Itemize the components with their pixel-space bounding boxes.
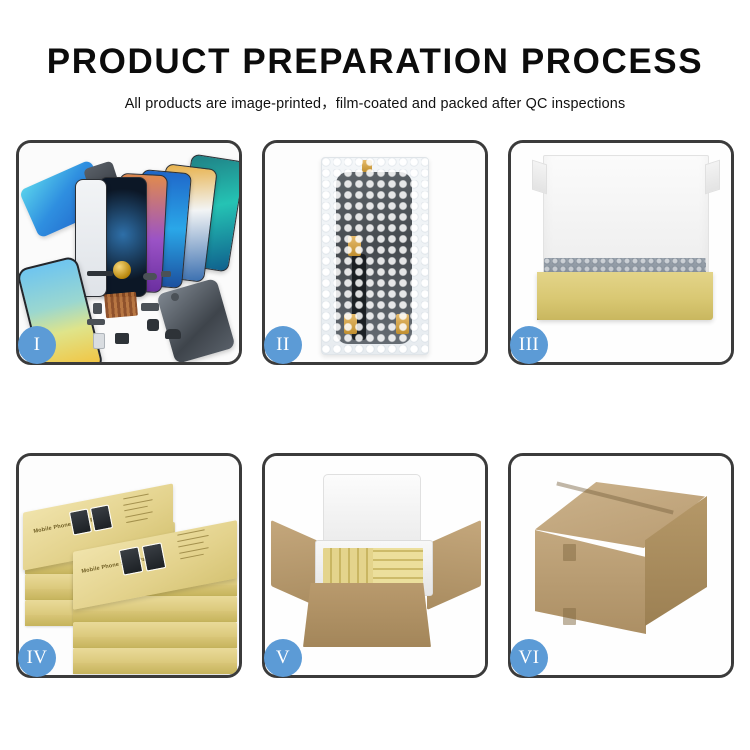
part-ribbon-icon <box>141 303 159 311</box>
step-3-image <box>511 143 731 362</box>
tape-piece-icon <box>348 236 361 256</box>
process-step-grid: I II III <box>16 140 734 678</box>
part-screw-icon <box>161 271 171 277</box>
step-badge-3: III <box>510 326 548 364</box>
tape-piece-icon <box>362 160 372 172</box>
foam-lid-icon <box>323 474 421 548</box>
part-vibrator-icon <box>165 329 181 339</box>
process-step-panel-4[interactable]: Mobile Phone Spare Parts Mobile Phone Sp… <box>16 453 242 678</box>
process-step-panel-6[interactable]: VI <box>508 453 734 678</box>
box-stack-group: Mobile Phone Spare Parts Mobile Phone Sp… <box>23 474 239 672</box>
carton-front-icon <box>303 583 431 647</box>
carton-flap-right-icon <box>427 520 481 610</box>
page-title: PRODUCT PREPARATION PROCESS <box>0 0 750 81</box>
kraft-box-body-icon <box>537 272 713 320</box>
stacked-box <box>73 648 237 674</box>
copper-coil-icon <box>113 261 131 279</box>
process-step-panel-2[interactable]: II <box>262 140 488 365</box>
part-speaker-icon <box>115 333 129 344</box>
page-header: PRODUCT PREPARATION PROCESS All products… <box>0 0 750 113</box>
part-button-icon <box>171 293 179 301</box>
step-5-image <box>265 456 485 675</box>
part-connector-icon <box>87 271 113 276</box>
carton-left-face-icon <box>535 530 646 634</box>
part-flex-cable-icon <box>87 319 105 325</box>
step-badge-5: V <box>264 639 302 677</box>
process-step-panel-5[interactable]: V <box>262 453 488 678</box>
process-step-panel-3[interactable]: III <box>508 140 734 365</box>
step-6-image <box>511 456 731 675</box>
bubble-wrap-bag-icon <box>321 157 429 355</box>
step-1-image <box>19 143 239 362</box>
step-2-image <box>265 143 485 362</box>
part-bracket-icon <box>93 303 102 314</box>
part-camera-icon <box>147 319 159 331</box>
carton-tape-icon <box>563 544 576 561</box>
tape-piece-icon <box>344 314 357 334</box>
carton-tape-icon <box>563 608 576 625</box>
part-clip-icon <box>143 273 157 280</box>
yellow-boxes-stack-icon <box>373 548 423 586</box>
page-subtitle: All products are image-printed，film-coat… <box>0 81 750 113</box>
process-step-panel-1[interactable]: I <box>16 140 242 365</box>
step-badge-2: II <box>264 326 302 364</box>
step-4-image: Mobile Phone Spare Parts Mobile Phone Sp… <box>19 456 239 675</box>
chip-board-icon <box>104 292 138 319</box>
step-badge-4: IV <box>18 639 56 677</box>
stacked-box <box>73 622 237 648</box>
step-badge-1: I <box>18 326 56 364</box>
part-sim-tray-icon <box>93 333 105 349</box>
step-badge-6: VI <box>510 639 548 677</box>
tape-piece-icon <box>396 314 409 334</box>
